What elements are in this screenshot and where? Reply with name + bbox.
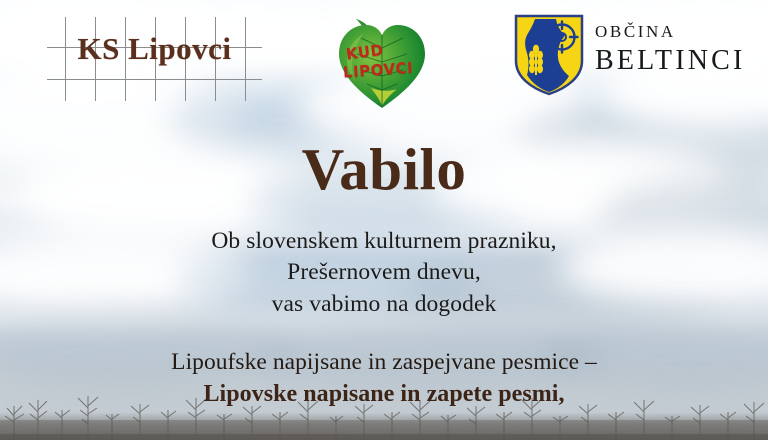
invitation-line-3: vas vabimo na dogodek (0, 289, 768, 320)
invitation-line-1: Ob slovenskem kulturnem prazniku, (0, 226, 768, 257)
beltinci-line-2: BELTINCI (595, 45, 746, 77)
invitation-line-2: Prešernovem dnevu, (0, 257, 768, 288)
logo-row: KS Lipovci (0, 0, 768, 118)
poster-root: KS Lipovci (0, 0, 768, 440)
page-title: Vabilo (0, 140, 768, 199)
ks-lipovci-label: KS Lipovci (47, 33, 262, 64)
event-title-standard: Lipovske napisane in zapete pesmi, (0, 378, 768, 410)
logo-obcina-beltinci[interactable]: OBČINA BELTINCI (513, 13, 761, 103)
beltinci-coat-of-arms (513, 13, 585, 96)
poster-content: Vabilo Ob slovenskem kulturnem prazniku,… (0, 118, 768, 440)
invitation-stanza: Ob slovenskem kulturnem prazniku, Prešer… (0, 226, 768, 320)
logo-kud-lipovci[interactable]: KUD LIPOVCI (333, 10, 431, 110)
beltinci-wordmark: OBČINA BELTINCI (595, 22, 746, 77)
leaf-icon (333, 10, 431, 110)
logo-ks-lipovci[interactable]: KS Lipovci (47, 17, 262, 101)
event-title-dialect: Lipoufske napijsane in zaspejvane pesmic… (0, 347, 768, 378)
beltinci-line-1: OBČINA (595, 22, 746, 42)
event-title-stanza: Lipoufske napijsane in zaspejvane pesmic… (0, 347, 768, 411)
